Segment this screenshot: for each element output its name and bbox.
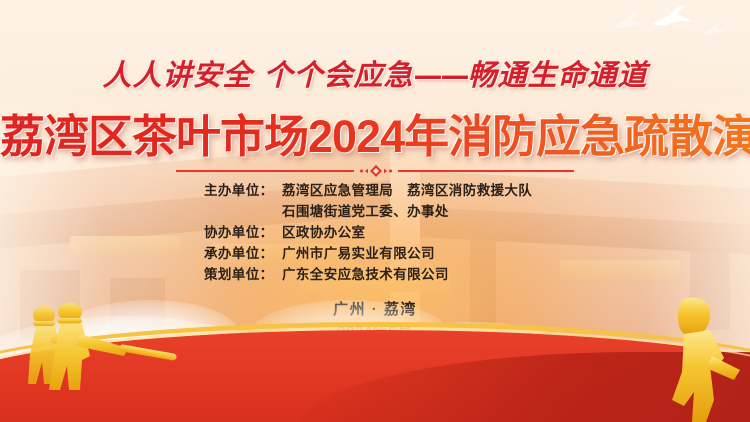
dove-icon bbox=[610, 12, 644, 34]
organizer-value: 广州市广易实业有限公司 bbox=[282, 243, 435, 264]
poster-subtitle: 人人讲安全 个个会应急——畅通生命通道 bbox=[0, 52, 750, 94]
divider-line-right bbox=[398, 170, 574, 172]
divider-line-left bbox=[176, 170, 354, 172]
dove-icon bbox=[648, 4, 694, 34]
organizer-value: 荔湾区应急管理局 荔湾区消防救援大队 bbox=[282, 180, 532, 201]
subtitle-part-two: 畅通生命通道 bbox=[468, 58, 648, 92]
firefighter-silhouette-icon bbox=[648, 296, 750, 422]
dove-icon bbox=[700, 22, 726, 39]
subtitle-dash: —— bbox=[414, 58, 468, 92]
organizer-row: 主办单位： 荔湾区应急管理局 荔湾区消防救援大队 bbox=[0, 180, 750, 201]
organizer-row: 策划单位： 广东全安应急技术有限公司 bbox=[0, 264, 750, 285]
divider bbox=[176, 165, 574, 177]
organizer-row: 协办单位： 区政协办公室 bbox=[0, 222, 750, 243]
organizer-value: 石围塘街道党工委、办事处 bbox=[282, 201, 449, 222]
poster-main-title: 荔湾区茶叶市场2024年消防应急疏散演练 bbox=[0, 100, 750, 165]
organizer-label: 主办单位： bbox=[204, 180, 282, 201]
subtitle-part-one: 人人讲安全 个个会应急 bbox=[102, 58, 413, 92]
organizer-label: 协办单位： bbox=[204, 222, 282, 243]
organizer-label: 策划单位： bbox=[204, 264, 282, 285]
fire-drill-poster: 人人讲安全 个个会应急——畅通生命通道 荔湾区茶叶市场2024年消防应急疏散演练… bbox=[0, 0, 750, 422]
firefighter-hose-silhouette-icon bbox=[8, 300, 208, 410]
organizer-label: 承办单位： bbox=[204, 243, 282, 264]
organizer-row: 承办单位： 广州市广易实业有限公司 bbox=[0, 243, 750, 264]
organizer-value: 区政协办公室 bbox=[282, 222, 365, 243]
organizer-row: 主办单位： 石围塘街道党工委、办事处 bbox=[0, 201, 750, 222]
organizer-value: 广东全安应急技术有限公司 bbox=[282, 264, 449, 285]
organizer-block: 主办单位： 荔湾区应急管理局 荔湾区消防救援大队 主办单位： 石围塘街道党工委、… bbox=[0, 180, 750, 285]
diamond-ornament-icon bbox=[359, 165, 393, 177]
